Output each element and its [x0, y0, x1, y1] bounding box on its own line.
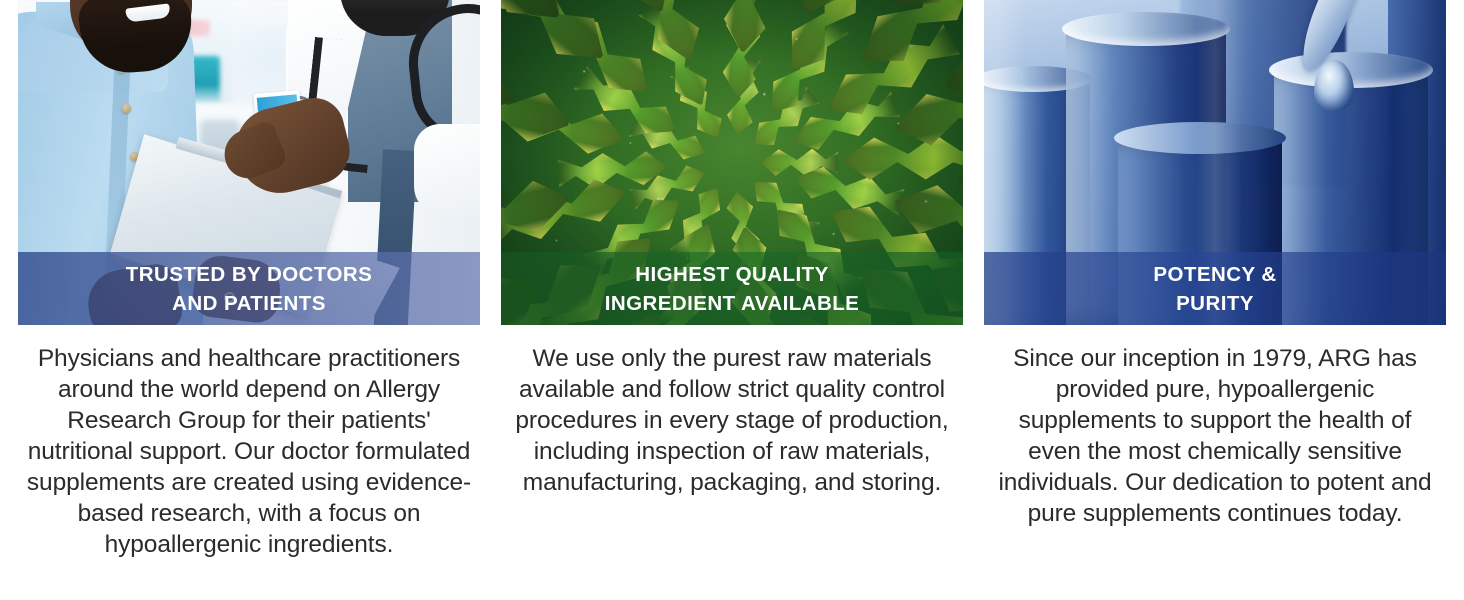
feature-columns-row: TRUSTED BY DOCTORS AND PATIENTS Physicia… [0, 0, 1464, 600]
feature-image-card-highest-quality-ingredient[interactable]: HIGHEST QUALITY INGREDIENT AVAILABLE [501, 0, 963, 325]
caption-band-trusted-by-doctors: TRUSTED BY DOCTORS AND PATIENTS [18, 252, 480, 325]
feature-image-card-trusted-by-doctors[interactable]: TRUSTED BY DOCTORS AND PATIENTS [18, 0, 480, 325]
caption-title-trusted-by-doctors: TRUSTED BY DOCTORS AND PATIENTS [118, 260, 381, 318]
caption-title-potency-and-purity: POTENCY & PURITY [1145, 260, 1284, 318]
feature-column-trusted-by-doctors: TRUSTED BY DOCTORS AND PATIENTS Physicia… [18, 0, 480, 585]
feature-body-trusted-by-doctors: Physicians and healthcare practitioners … [18, 343, 480, 560]
caption-band-potency-and-purity: POTENCY & PURITY [984, 252, 1446, 325]
caption-band-highest-quality-ingredient: HIGHEST QUALITY INGREDIENT AVAILABLE [501, 252, 963, 325]
feature-image-card-potency-and-purity[interactable]: POTENCY & PURITY [984, 0, 1446, 325]
lab-coat-cuff [414, 124, 480, 216]
feature-body-potency-and-purity: Since our inception in 1979, ARG has pro… [984, 343, 1446, 529]
feature-body-highest-quality-ingredient: We use only the purest raw materials ava… [501, 343, 963, 498]
feature-column-highest-quality-ingredient: HIGHEST QUALITY INGREDIENT AVAILABLE We … [501, 0, 963, 523]
feature-column-potency-and-purity: POTENCY & PURITY Since our inception in … [984, 0, 1446, 554]
caption-title-highest-quality-ingredient: HIGHEST QUALITY INGREDIENT AVAILABLE [597, 260, 868, 318]
shirt-button [122, 104, 131, 113]
